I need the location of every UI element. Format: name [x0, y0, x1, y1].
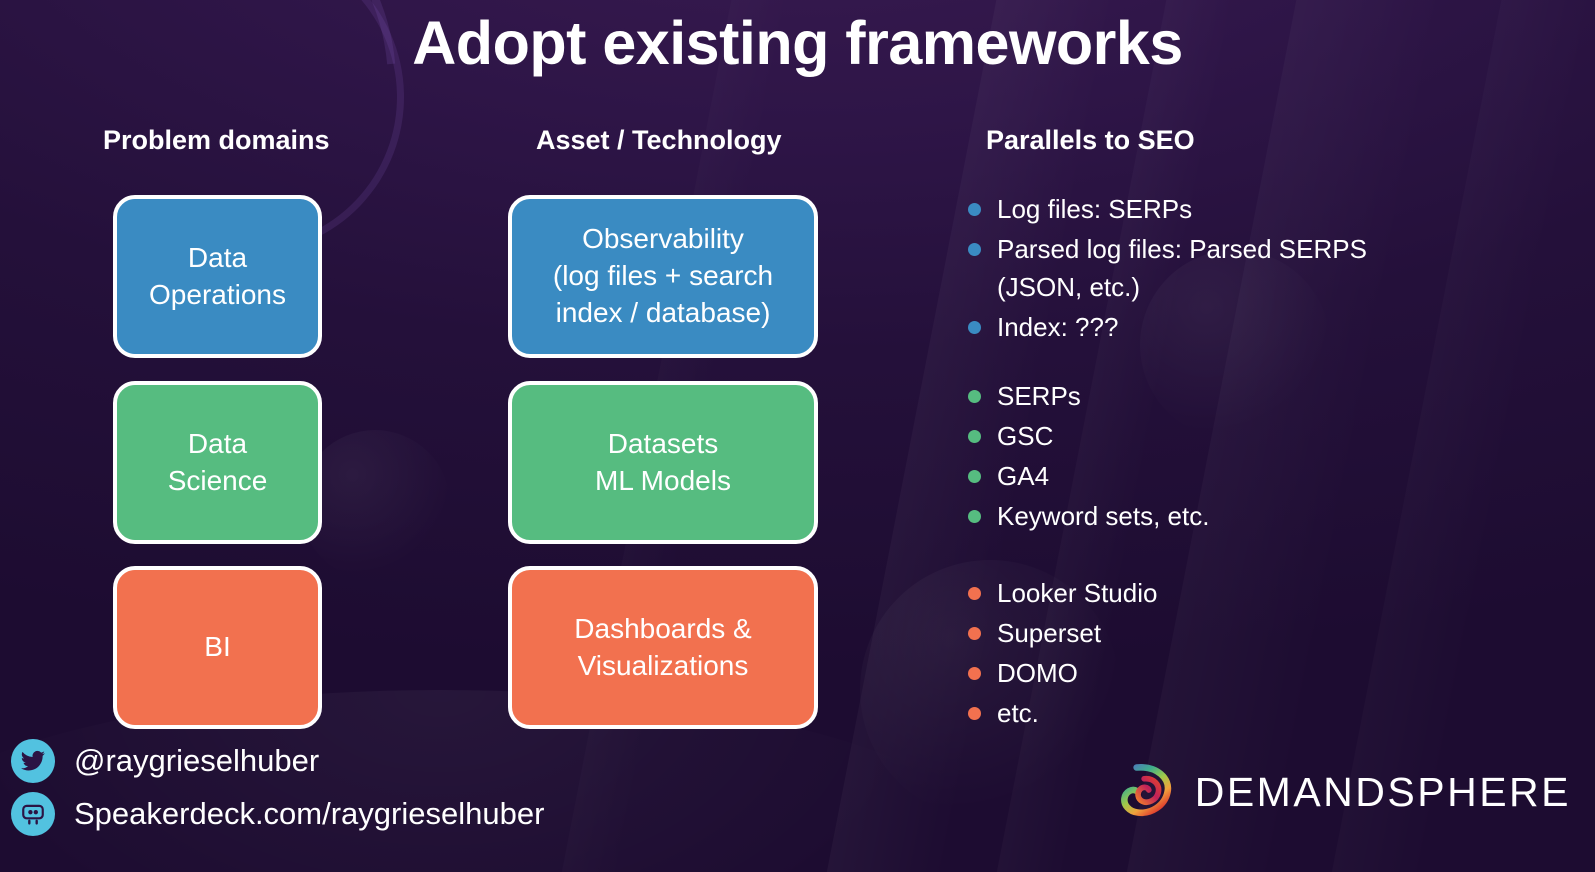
bullet-item: etc. — [968, 695, 1157, 733]
speakerdeck-icon — [11, 792, 55, 836]
bullet-label: Keyword sets, etc. — [997, 498, 1209, 536]
box-label: Dashboards &Visualizations — [574, 611, 751, 685]
bullet-label: GA4 — [997, 458, 1049, 496]
bullet-label: DOMO — [997, 655, 1078, 693]
bullet-item: SERPs — [968, 378, 1209, 416]
box-label: Observability(log files + searchindex / … — [553, 221, 773, 332]
column-header-parallels-to-seo: Parallels to SEO — [986, 125, 1195, 156]
bullet-item: Keyword sets, etc. — [968, 498, 1209, 536]
column-header-asset-technology: Asset / Technology — [536, 125, 782, 156]
bullet-label: Parsed log files: Parsed SERPS (JSON, et… — [997, 231, 1427, 307]
problem-domain-box-bi: BI — [113, 566, 322, 729]
bullet-item: Parsed log files: Parsed SERPS (JSON, et… — [968, 231, 1427, 307]
box-label: BI — [204, 629, 230, 666]
bullet-dot-icon — [968, 667, 981, 680]
demandsphere-logo — [1116, 760, 1176, 825]
bullet-dot-icon — [968, 203, 981, 216]
social-link-speakerdeck[interactable]: Speakerdeck.com/raygrieselhuber — [11, 792, 544, 836]
bullet-label: Looker Studio — [997, 575, 1157, 613]
column-header-problem-domains: Problem domains — [103, 125, 330, 156]
brand-logo-demandsphere: DEMANDSPHERE — [1116, 760, 1571, 825]
bullet-label: Index: ??? — [997, 309, 1118, 347]
box-label: DatasetsML Models — [595, 426, 731, 500]
bullet-item: Log files: SERPs — [968, 191, 1427, 229]
bullet-dot-icon — [968, 510, 981, 523]
bullet-dot-icon — [968, 321, 981, 334]
bullet-item: GSC — [968, 418, 1209, 456]
bullet-dot-icon — [968, 470, 981, 483]
social-link-twitter[interactable]: @raygrieselhuber — [11, 739, 319, 783]
bullet-item: Superset — [968, 615, 1157, 653]
bullet-dot-icon — [968, 243, 981, 256]
bullet-label: SERPs — [997, 378, 1081, 416]
slide-title: Adopt existing frameworks — [0, 8, 1595, 78]
bullet-label: GSC — [997, 418, 1053, 456]
twitter-icon — [11, 739, 55, 783]
parallels-group-data-operations: Log files: SERPsParsed log files: Parsed… — [968, 191, 1427, 349]
bullet-label: Superset — [997, 615, 1101, 653]
bullet-label: etc. — [997, 695, 1039, 733]
background-blob — [300, 430, 450, 580]
background-band — [1284, 0, 1595, 872]
social-label-speakerdeck: Speakerdeck.com/raygrieselhuber — [74, 796, 544, 832]
bullet-item: Index: ??? — [968, 309, 1427, 347]
bullet-dot-icon — [968, 430, 981, 443]
parallels-group-bi: Looker StudioSupersetDOMOetc. — [968, 575, 1157, 735]
bullet-dot-icon — [968, 587, 981, 600]
bullet-label: Log files: SERPs — [997, 191, 1192, 229]
brand-name: DEMANDSPHERE — [1195, 769, 1571, 816]
bullet-dot-icon — [968, 707, 981, 720]
problem-domain-box-data-operations: DataOperations — [113, 195, 322, 358]
asset-technology-box-dashboards: Dashboards &Visualizations — [508, 566, 818, 729]
asset-technology-box-datasets: DatasetsML Models — [508, 381, 818, 544]
social-label-twitter: @raygrieselhuber — [74, 743, 319, 779]
bullet-dot-icon — [968, 627, 981, 640]
problem-domain-box-data-science: DataScience — [113, 381, 322, 544]
bullet-dot-icon — [968, 390, 981, 403]
slide: Adopt existing frameworks Problem domain… — [0, 0, 1595, 872]
bullet-item: DOMO — [968, 655, 1157, 693]
bullet-item: Looker Studio — [968, 575, 1157, 613]
box-label: DataScience — [168, 426, 268, 500]
parallels-group-data-science: SERPsGSCGA4Keyword sets, etc. — [968, 378, 1209, 538]
box-label: DataOperations — [149, 240, 286, 314]
bullet-item: GA4 — [968, 458, 1209, 496]
asset-technology-box-observability: Observability(log files + searchindex / … — [508, 195, 818, 358]
